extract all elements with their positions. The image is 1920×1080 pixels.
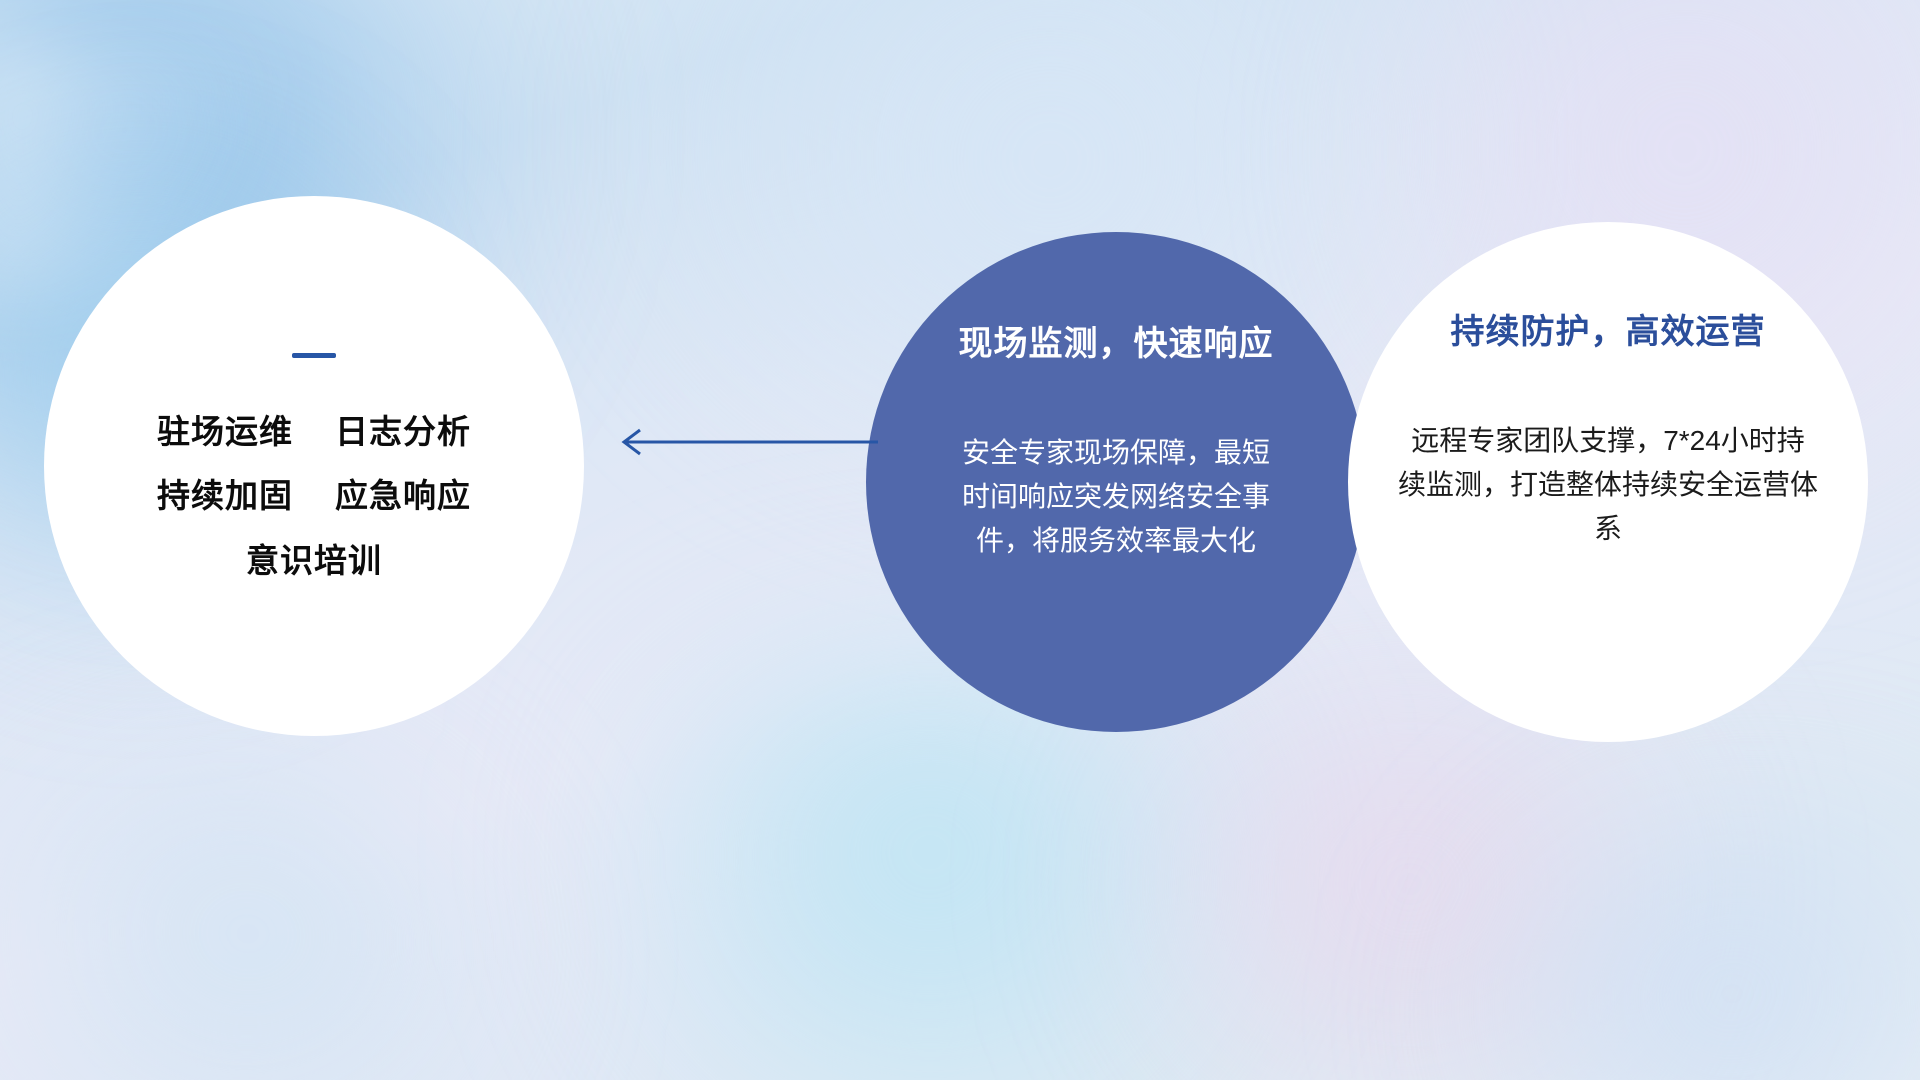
keyword-item: 持续加固 [157, 478, 293, 514]
continuous-protection-circle: 持续防护，高效运营 远程专家团队支撑，7*24小时持续监测，打造整体持续安全运营… [1348, 222, 1868, 742]
continuous-protection-body: 远程专家团队支撑，7*24小时持续监测，打造整体持续安全运营体系 [1398, 419, 1818, 552]
keyword-row: 驻场运维 日志分析 [157, 414, 471, 450]
service-keyword-list: 驻场运维 日志分析 持续加固 应急响应 意识培训 [157, 414, 471, 579]
slide-canvas: 现场监测，快速响应 安全专家现场保障，最短时间响应突发网络安全事件，将服务效率最… [0, 0, 1920, 1080]
keyword-row: 持续加固 应急响应 [157, 478, 471, 514]
divider-dash-icon [292, 353, 336, 358]
service-keywords-circle: 驻场运维 日志分析 持续加固 应急响应 意识培训 [44, 196, 584, 736]
keyword-item: 应急响应 [335, 478, 471, 514]
keyword-item: 意识培训 [246, 543, 382, 579]
keyword-item: 驻场运维 [157, 414, 293, 450]
onsite-monitoring-body: 安全专家现场保障，最短时间响应突发网络安全事件，将服务效率最大化 [951, 431, 1281, 564]
onsite-monitoring-circle: 现场监测，快速响应 安全专家现场保障，最短时间响应突发网络安全事件，将服务效率最… [866, 232, 1366, 732]
keyword-row: 意识培训 [246, 543, 382, 579]
left-pointing-arrow [610, 420, 880, 464]
continuous-protection-title: 持续防护，高效运营 [1451, 304, 1766, 353]
keyword-item: 日志分析 [335, 414, 471, 450]
onsite-monitoring-title: 现场监测，快速响应 [959, 316, 1274, 365]
